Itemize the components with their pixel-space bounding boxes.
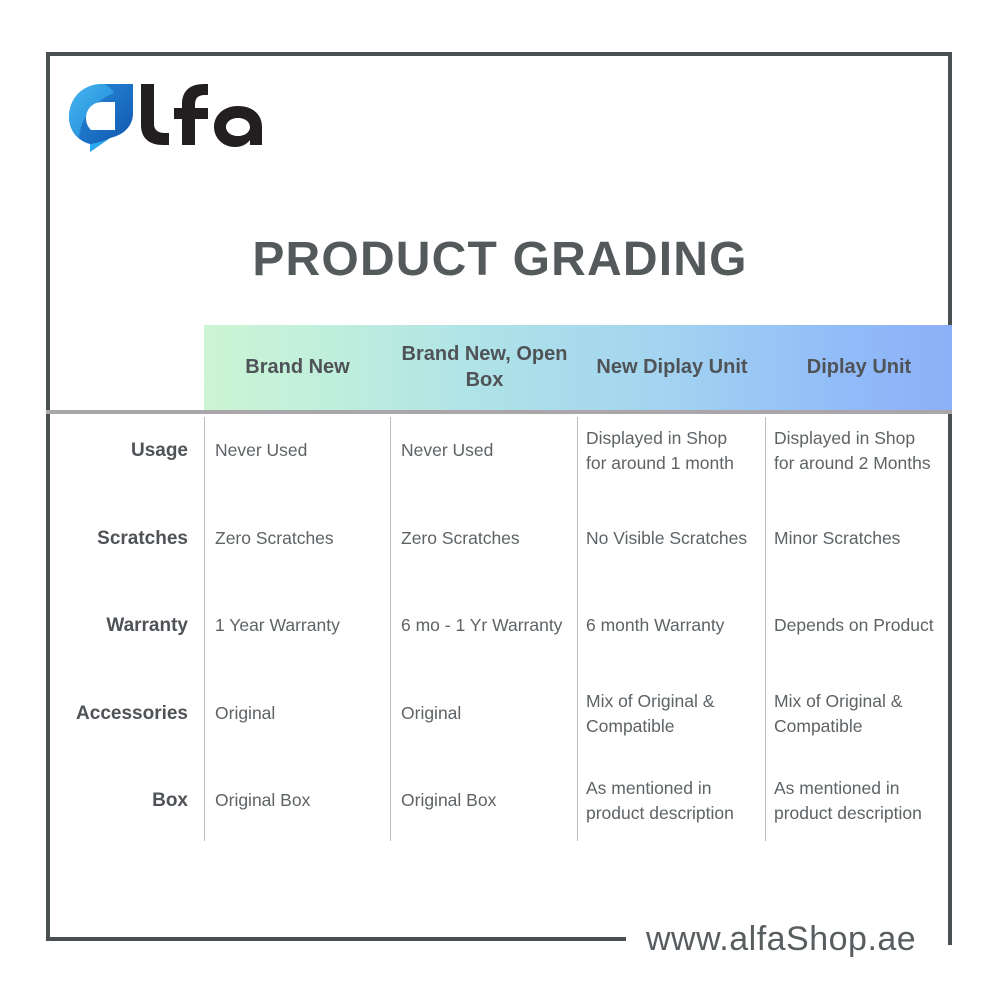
row-label-usage: Usage — [46, 440, 188, 462]
cell-warranty-diplay-unit: Depends on Product — [774, 613, 969, 638]
cell-scratches-brand-new-open-box: Zero Scratches — [401, 526, 576, 551]
cell-accessories-brand-new: Original — [215, 701, 390, 726]
cell-accessories-new-diplay-unit: Mix of Original & Compatible — [586, 689, 768, 739]
cell-usage-brand-new-open-box: Never Used — [401, 438, 576, 463]
header-divider-rule — [46, 410, 952, 414]
cell-box-brand-new-open-box: Original Box — [401, 788, 576, 813]
column-header-brand-new-open-box: Brand New, Open Box — [391, 325, 578, 410]
cell-accessories-brand-new-open-box: Original — [401, 701, 576, 726]
product-grading-infographic: PRODUCT GRADING Brand New Brand New, Ope… — [0, 0, 1000, 1000]
row-label-box: Box — [46, 790, 188, 812]
cell-warranty-new-diplay-unit: 6 month Warranty — [586, 613, 768, 638]
column-divider-2 — [390, 417, 391, 841]
cell-usage-brand-new: Never Used — [215, 438, 390, 463]
column-header-brand-new: Brand New — [204, 325, 391, 410]
column-header-diplay-unit: Diplay Unit — [766, 325, 952, 410]
cell-box-diplay-unit: As mentioned in product description — [774, 776, 964, 826]
cell-usage-diplay-unit: Displayed in Shop for around 2 Months — [774, 426, 964, 476]
cell-scratches-brand-new: Zero Scratches — [215, 526, 390, 551]
frame-top-border — [46, 52, 952, 56]
cell-scratches-diplay-unit: Minor Scratches — [774, 526, 964, 551]
logo-a-mark — [69, 84, 133, 152]
row-label-scratches: Scratches — [46, 528, 188, 550]
cell-accessories-diplay-unit: Mix of Original & Compatible — [774, 689, 964, 739]
cell-scratches-new-diplay-unit: No Visible Scratches — [586, 526, 772, 551]
cell-warranty-brand-new: 1 Year Warranty — [215, 613, 390, 638]
cell-box-new-diplay-unit: As mentioned in product description — [586, 776, 768, 826]
cell-box-brand-new: Original Box — [215, 788, 390, 813]
table-header-band: Brand New Brand New, Open Box New Diplay… — [204, 325, 952, 410]
footer-website-url: www.alfaShop.ae — [646, 920, 916, 959]
row-label-warranty: Warranty — [46, 615, 188, 637]
logo-wordmark — [141, 84, 262, 147]
cell-usage-new-diplay-unit: Displayed in Shop for around 1 month — [586, 426, 768, 476]
column-header-new-diplay-unit: New Diplay Unit — [578, 325, 766, 410]
row-label-accessories: Accessories — [46, 703, 188, 725]
alfa-logo — [68, 82, 263, 154]
page-title: PRODUCT GRADING — [0, 232, 1000, 287]
cell-warranty-brand-new-open-box: 6 mo - 1 Yr Warranty — [401, 613, 581, 638]
column-divider-1 — [204, 417, 205, 841]
frame-bottom-border — [46, 937, 626, 941]
